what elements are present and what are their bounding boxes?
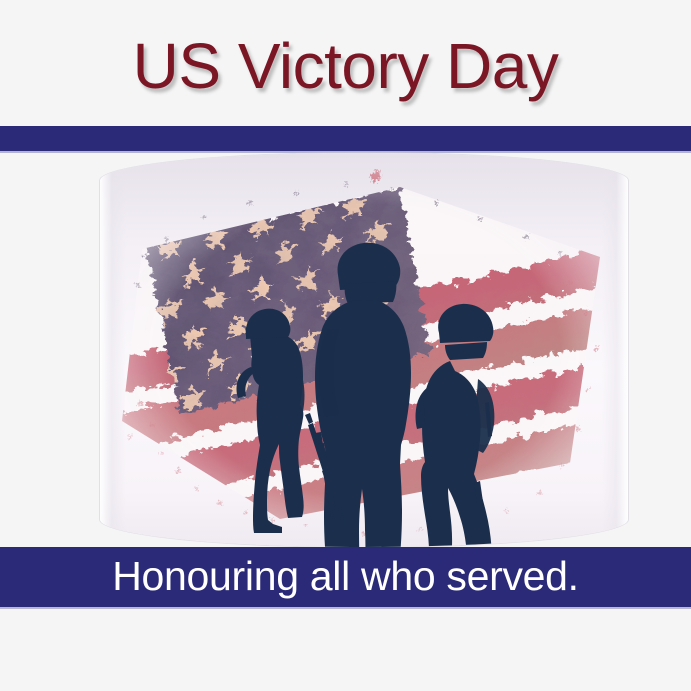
- page-curl-left: [100, 153, 126, 547]
- footer-message: Honouring all who served.: [112, 556, 579, 597]
- footer-banner-hairline: [0, 607, 691, 609]
- page-title: US Victory Day: [133, 34, 559, 98]
- poster-canvas: US Victory Day: [0, 0, 691, 691]
- artwork-card: [100, 153, 628, 547]
- flag-and-soldiers-illustration: [100, 153, 628, 547]
- footer-banner: Honouring all who served.: [0, 547, 691, 607]
- top-divider-bar: [0, 126, 691, 151]
- title-area: US Victory Day: [0, 0, 691, 126]
- page-curl-right: [602, 153, 628, 547]
